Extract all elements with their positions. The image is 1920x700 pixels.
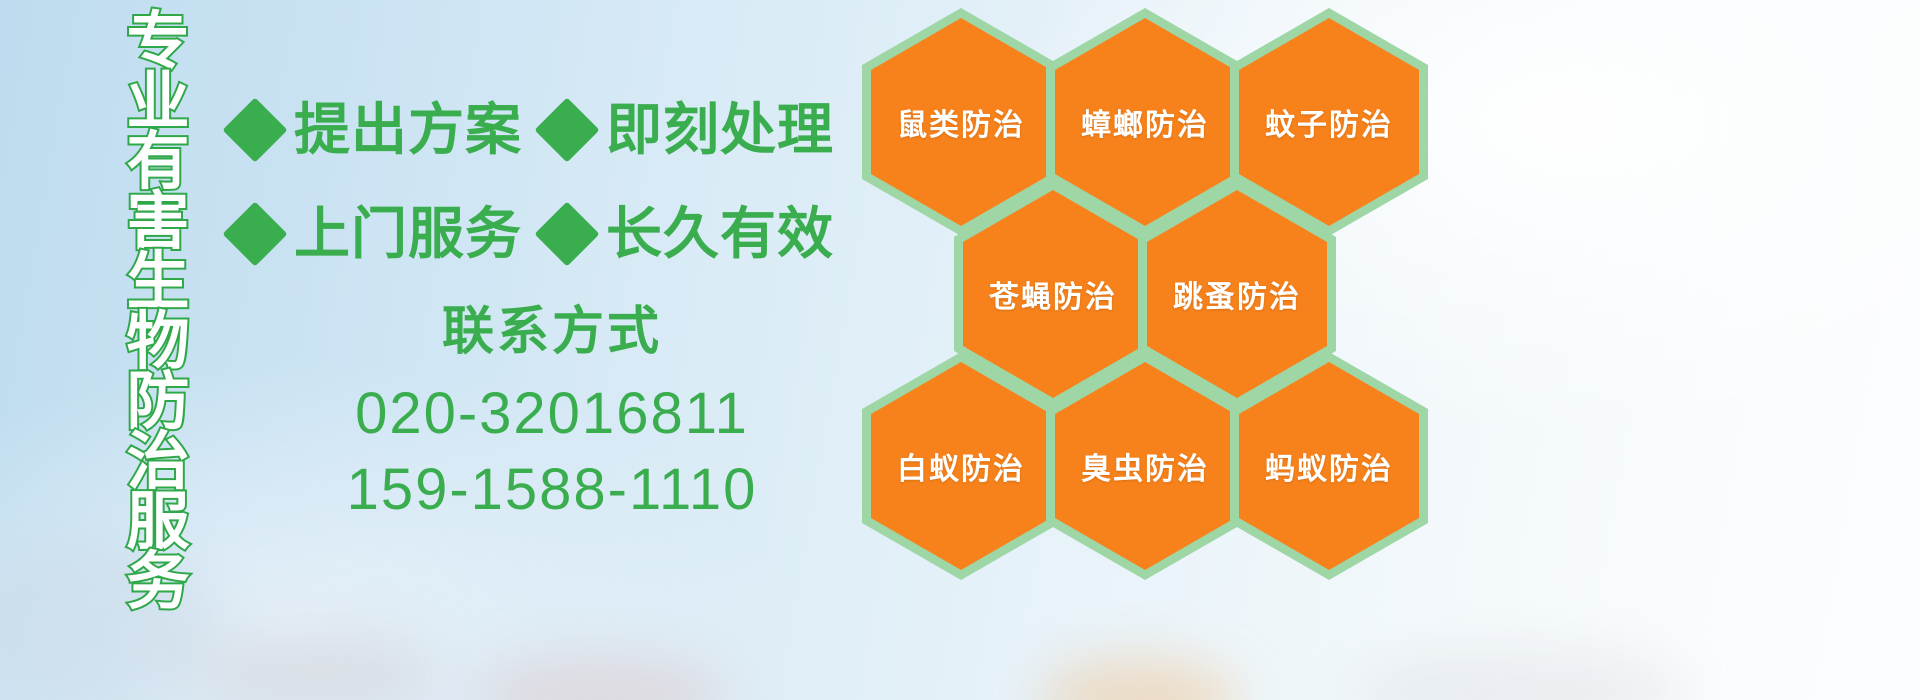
vertical-slogan-char: 服 xyxy=(127,492,190,552)
diamond-icon xyxy=(222,97,287,162)
vertical-slogan-char: 生 xyxy=(127,252,190,312)
contact-phone-landline[interactable]: 020-32016811 xyxy=(232,376,872,452)
feature-item: 上门服务 xyxy=(232,206,522,262)
service-hexagon-label: 蟑螂防治 xyxy=(1081,100,1209,144)
vertical-slogan: 专业有害生物防治服务 xyxy=(112,12,204,612)
feature-row: 上门服务长久有效 xyxy=(232,182,872,286)
vertical-slogan-char: 治 xyxy=(127,432,190,492)
feature-item: 即刻处理 xyxy=(544,102,834,158)
background-blur-shape xyxy=(470,655,730,700)
service-hexagon-label: 鼠类防治 xyxy=(897,100,1025,144)
hexagon-fill: 臭虫防治 xyxy=(1055,362,1235,570)
vertical-slogan-char: 务 xyxy=(127,552,190,612)
service-hexagon-label: 蚊子防治 xyxy=(1265,100,1393,144)
feature-row: 提出方案即刻处理 xyxy=(232,78,872,182)
feature-list: 提出方案即刻处理上门服务长久有效 xyxy=(232,78,872,286)
background-blur-shape xyxy=(1350,648,1690,700)
service-hexagon-label: 跳蚤防治 xyxy=(1173,272,1301,316)
feature-item: 长久有效 xyxy=(544,206,834,262)
vertical-slogan-char: 有 xyxy=(127,132,190,192)
vertical-slogan-char: 防 xyxy=(127,372,190,432)
hexagon-fill: 白蚁防治 xyxy=(871,362,1051,570)
contact-phone-mobile[interactable]: 159-1588-1110 xyxy=(232,452,872,528)
vertical-slogan-char: 专 xyxy=(127,12,190,72)
service-hexagon-label: 白蚁防治 xyxy=(897,444,1025,488)
feature-label: 上门服务 xyxy=(294,206,522,262)
hexagon-fill: 蚂蚁防治 xyxy=(1239,362,1419,570)
diamond-icon xyxy=(534,97,599,162)
feature-label: 长久有效 xyxy=(606,206,834,262)
service-hexagon-label: 苍蝇防治 xyxy=(989,272,1117,316)
feature-label: 提出方案 xyxy=(294,102,522,158)
vertical-slogan-char: 业 xyxy=(127,72,190,132)
diamond-icon xyxy=(222,201,287,266)
vertical-slogan-char: 物 xyxy=(127,312,190,372)
service-hexagon-label: 蚂蚁防治 xyxy=(1265,444,1393,488)
hexagon-fill: 鼠类防治 xyxy=(871,18,1051,226)
hexagon-fill: 苍蝇防治 xyxy=(963,190,1143,398)
hexagon-fill: 蚊子防治 xyxy=(1239,18,1419,226)
service-honeycomb: 鼠类防治蟑螂防治蚊子防治苍蝇防治跳蚤防治白蚁防治臭虫防治蚂蚁防治 xyxy=(862,0,1462,560)
hexagon-fill: 蟑螂防治 xyxy=(1055,18,1235,226)
feature-item: 提出方案 xyxy=(232,102,522,158)
contact-block: 联系方式 020-32016811 159-1588-1110 xyxy=(232,300,872,528)
background-blur-shape xyxy=(200,630,440,700)
background-blur-shape xyxy=(1040,660,1240,700)
promo-banner: 专业有害生物防治服务 提出方案即刻处理上门服务长久有效 联系方式 020-320… xyxy=(0,0,1920,700)
feature-label: 即刻处理 xyxy=(606,102,834,158)
vertical-slogan-char: 害 xyxy=(127,192,190,252)
diamond-icon xyxy=(534,201,599,266)
service-hexagon-label: 臭虫防治 xyxy=(1081,444,1209,488)
contact-title: 联系方式 xyxy=(232,300,872,364)
hexagon-fill: 跳蚤防治 xyxy=(1147,190,1327,398)
